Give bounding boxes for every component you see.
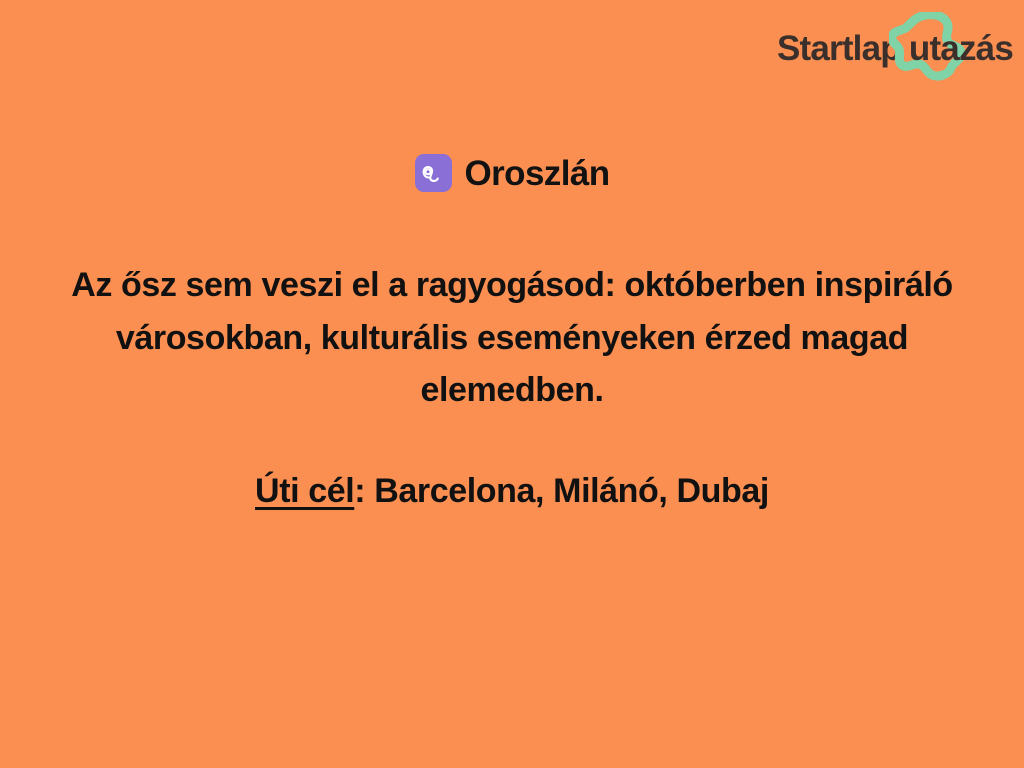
brand-name-startlap: Startlap	[777, 31, 901, 66]
brand-logo[interactable]: Startlap utazás	[777, 24, 1013, 72]
horoscope-body-text: Az ősz sem veszi el a ragyogásod: októbe…	[38, 259, 986, 417]
destination-label: Úti cél	[255, 472, 354, 510]
destination-line: Úti cél: Barcelona, Milánó, Dubaj	[38, 469, 986, 513]
zodiac-sign-name: Oroszlán	[465, 156, 610, 191]
card-content: Oroszlán Az ősz sem veszi el a ragyogáso…	[0, 150, 1024, 513]
leo-zodiac-icon	[415, 154, 452, 192]
brand-name-utazas: utazás	[909, 31, 1013, 66]
horoscope-card: Startlap utazás Oroszlán Az ősz sem vesz…	[0, 0, 1024, 768]
destination-separator: :	[354, 472, 374, 510]
zodiac-sign-heading: Oroszlán	[38, 150, 986, 196]
destination-cities: Barcelona, Milánó, Dubaj	[374, 472, 769, 510]
